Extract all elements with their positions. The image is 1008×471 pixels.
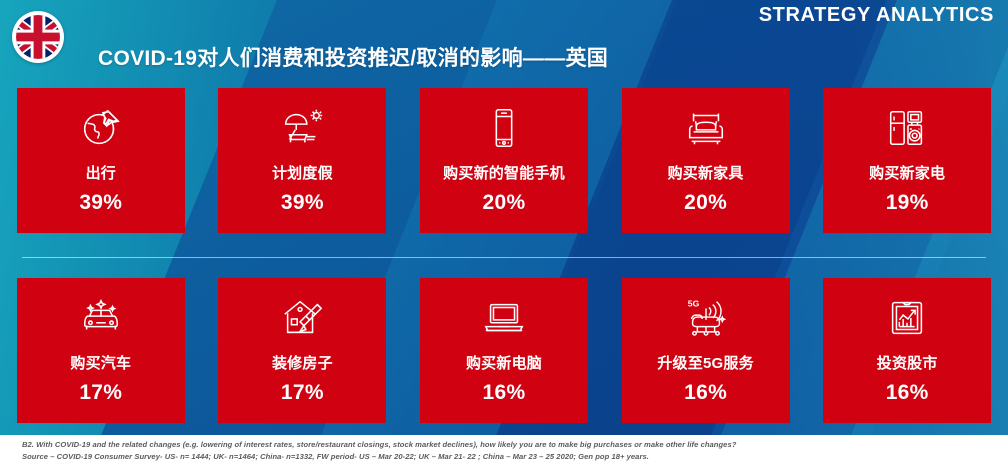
card-cell: 投资股市 16% — [806, 278, 1008, 423]
card-cell: 出行 39% — [0, 88, 202, 233]
router-5g-icon: 5G — [683, 290, 729, 346]
card-cell: 购买新家电 19% — [806, 88, 1008, 233]
card-cell: 5G 升级至5G服务 16% — [605, 278, 807, 423]
card-value: 39% — [281, 191, 324, 215]
card-value: 16% — [886, 381, 929, 405]
stat-card-appliances[interactable]: 购买新家电 19% — [823, 88, 991, 233]
card-label: 投资股市 — [877, 352, 938, 373]
card-value: 16% — [684, 381, 727, 405]
stock-chart-tablet-icon — [884, 290, 930, 346]
card-value: 16% — [483, 381, 526, 405]
card-row-2: 购买汽车 17% — [0, 278, 1008, 423]
card-label: 购买新家电 — [869, 162, 945, 183]
laptop-icon — [481, 290, 527, 346]
globe-airplane-icon — [78, 100, 124, 156]
card-label: 购买汽车 — [70, 352, 131, 373]
uk-flag-icon — [12, 11, 64, 63]
card-cell: 购买新家具 20% — [605, 88, 807, 233]
card-value: 20% — [483, 191, 526, 215]
card-label: 购买新的智能手机 — [443, 162, 565, 183]
card-value: 17% — [281, 381, 324, 405]
footnote: B2. With COVID-19 and the related change… — [0, 435, 1008, 471]
card-value: 20% — [684, 191, 727, 215]
refrigerator-appliance-icon — [884, 100, 930, 156]
stat-card-car[interactable]: 购买汽车 17% — [17, 278, 185, 423]
footnote-source: Source – COVID-19 Consumer Survey- US- n… — [22, 451, 1008, 463]
card-row-1: 出行 39% — [0, 88, 1008, 233]
page-title: COVID-19对人们消费和投资推迟/取消的影响——英国 — [98, 42, 608, 72]
brand-logo-text: STRATEGY ANALYTICS — [759, 4, 994, 27]
stat-card-furniture[interactable]: 购买新家具 20% — [622, 88, 790, 233]
header: COVID-19对人们消费和投资推迟/取消的影响——英国 STRATEGY AN… — [0, 0, 1008, 78]
car-icon — [78, 290, 124, 346]
infographic-slide: COVID-19对人们消费和投资推迟/取消的影响——英国 STRATEGY AN… — [0, 0, 1008, 471]
card-label: 出行 — [86, 162, 116, 183]
stat-card-5g[interactable]: 5G 升级至5G服务 16% — [622, 278, 790, 423]
stat-card-travel[interactable]: 出行 39% — [17, 88, 185, 233]
card-cell: 购买汽车 17% — [0, 278, 202, 423]
footnote-question: B2. With COVID-19 and the related change… — [22, 439, 1008, 451]
card-label: 购买新家具 — [668, 162, 744, 183]
card-value: 19% — [886, 191, 929, 215]
stat-card-renovation[interactable]: 装修房子 17% — [218, 278, 386, 423]
stat-card-smartphone[interactable]: 购买新的智能手机 20% — [420, 88, 588, 233]
card-label: 购买新电脑 — [466, 352, 542, 373]
svg-text:5G: 5G — [687, 299, 699, 309]
card-value: 17% — [79, 381, 122, 405]
stat-card-stocks[interactable]: 投资股市 16% — [823, 278, 991, 423]
stat-card-computer[interactable]: 购买新电脑 16% — [420, 278, 588, 423]
armchair-icon — [683, 100, 729, 156]
smartphone-icon — [481, 100, 527, 156]
house-paint-roller-icon — [279, 290, 325, 346]
card-label: 装修房子 — [272, 352, 333, 373]
row-divider — [22, 257, 986, 258]
beach-umbrella-lounger-icon — [279, 100, 325, 156]
card-cell: 装修房子 17% — [202, 278, 404, 423]
card-label: 计划度假 — [272, 162, 333, 183]
card-cell: 购买新电脑 16% — [403, 278, 605, 423]
card-cell: 购买新的智能手机 20% — [403, 88, 605, 233]
card-cell: 计划度假 39% — [202, 88, 404, 233]
card-value: 39% — [79, 191, 122, 215]
stat-card-holiday[interactable]: 计划度假 39% — [218, 88, 386, 233]
card-label: 升级至5G服务 — [657, 352, 753, 373]
